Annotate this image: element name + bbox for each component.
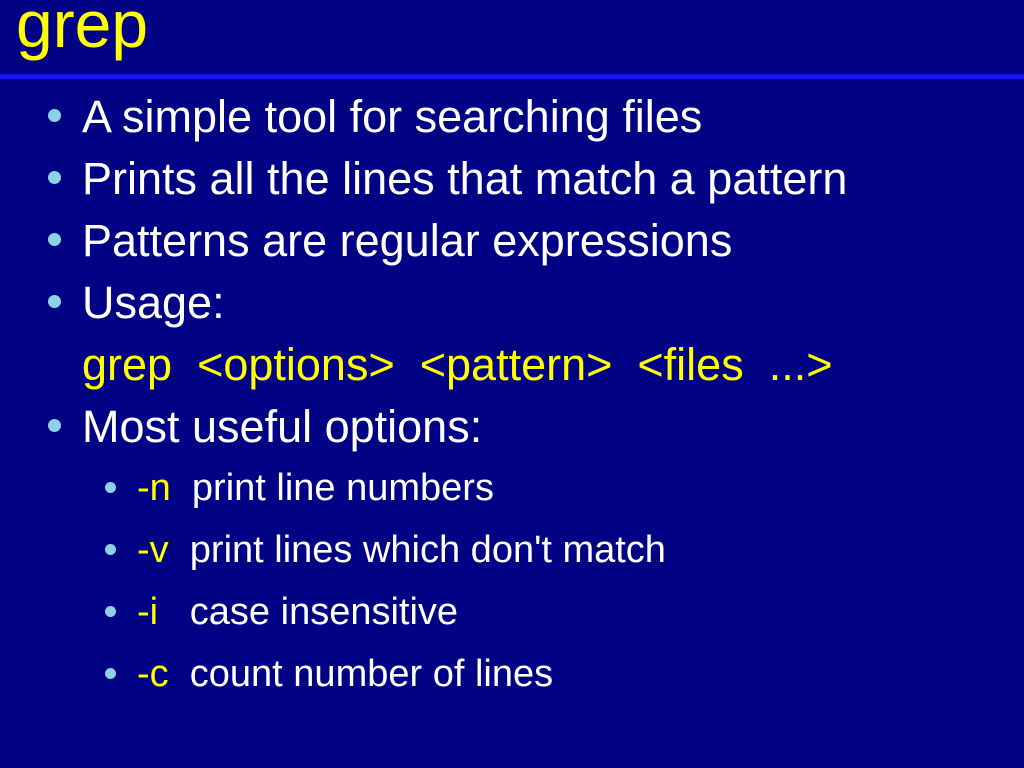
option-description: print line numbers [192,467,494,509]
list-item: -c count number of lines [0,646,1024,708]
list-item-label: Patterns are regular expressions [82,215,732,266]
page-title: grep [16,0,148,57]
option-gap [171,467,192,509]
option-flag: -n [137,467,171,509]
list-item: Usage: [0,274,1024,336]
list-item: -v print lines which don't match [0,522,1024,584]
bullet-icon [105,544,116,555]
list-item-label: Usage: [82,277,225,328]
list-item: Patterns are regular expressions [0,212,1024,274]
list-item-label: Most useful options: [82,401,482,452]
slide-body: A simple tool for searching files Prints… [0,88,1024,708]
option-flag: -c [137,653,169,695]
list-item: Most useful options: [0,398,1024,460]
usage-syntax-text: grep <options> <pattern> <files ...> [82,339,833,390]
bullet-icon [48,109,61,122]
list-item: A simple tool for searching files [0,88,1024,150]
title-divider [0,74,1024,79]
list-item: -n print line numbers [0,460,1024,522]
bullet-icon [105,482,116,493]
list-item: -i case insensitive [0,584,1024,646]
bullet-icon [48,171,61,184]
option-gap [169,529,190,571]
option-entry: -i case insensitive [137,591,458,633]
bullet-icon [48,233,61,246]
option-flag: -v [137,529,169,571]
option-entry: -v print lines which don't match [137,529,666,571]
option-description: case insensitive [190,591,458,633]
option-entry: -n print line numbers [137,467,494,509]
list-item: Prints all the lines that match a patter… [0,150,1024,212]
option-entry: -c count number of lines [137,653,553,695]
option-gap [158,591,190,633]
bullet-icon [48,419,61,432]
slide: grep A simple tool for searching files P… [0,0,1024,768]
option-gap [169,653,190,695]
bullet-icon [105,606,116,617]
usage-syntax-line: grep <options> <pattern> <files ...> [0,336,1024,398]
option-description: print lines which don't match [190,529,666,571]
list-item-label: Prints all the lines that match a patter… [82,153,847,204]
bullet-icon [48,295,61,308]
option-description: count number of lines [190,653,553,695]
list-item-label: A simple tool for searching files [82,91,702,142]
bullet-icon [105,668,116,679]
option-flag: -i [137,591,158,633]
slide-title-area: grep [0,0,1024,75]
